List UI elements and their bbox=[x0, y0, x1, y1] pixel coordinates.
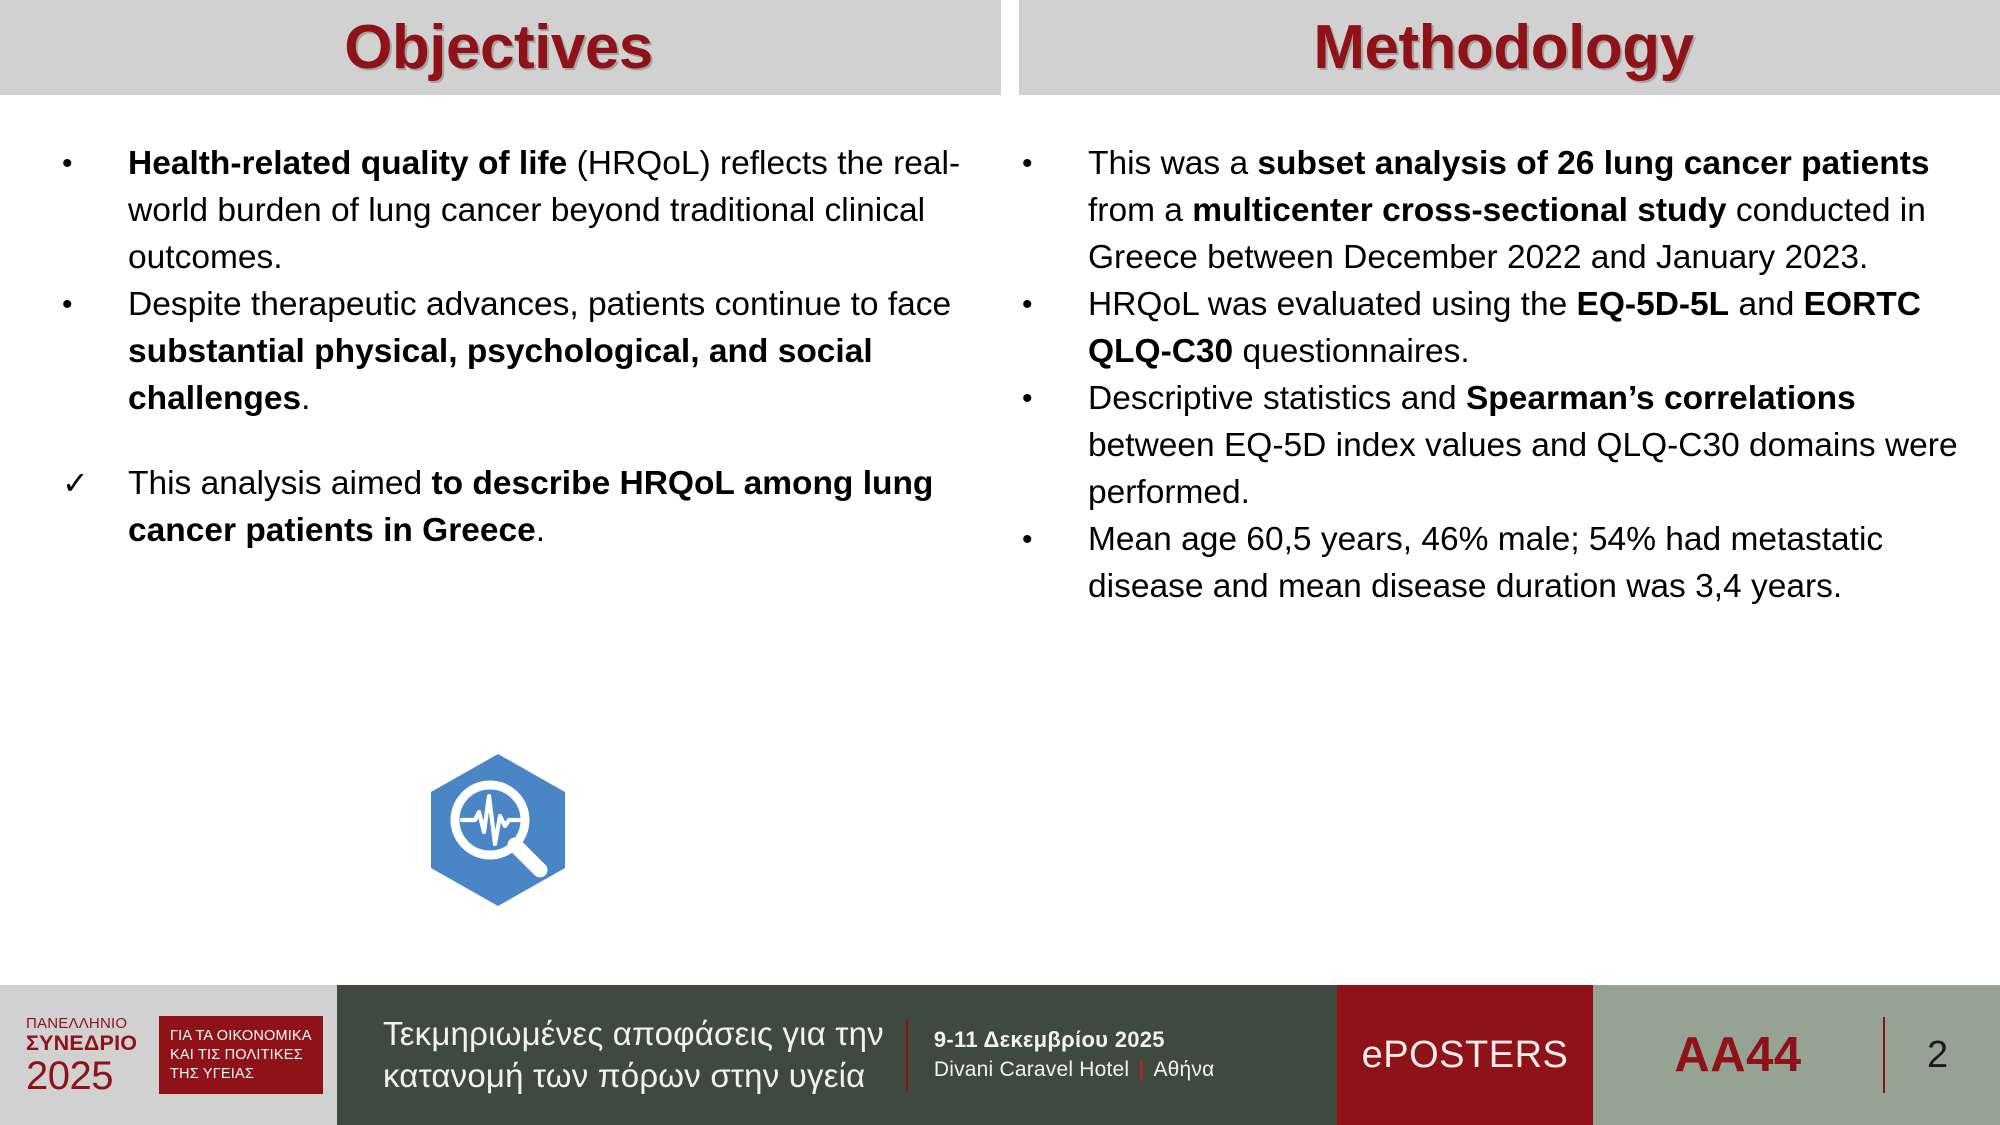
list-item: • Health-related quality of life (HRQoL)… bbox=[50, 140, 980, 281]
check-mark-icon: ✓ bbox=[62, 460, 102, 507]
list-item: • Mean age 60,5 years, 46% male; 54% had… bbox=[1010, 516, 1970, 610]
bullet-dot-icon: • bbox=[1022, 281, 1062, 328]
bullet-text: Mean age 60,5 years, 46% male; 54% had m… bbox=[1088, 521, 1883, 605]
list-item: • Despite therapeutic advances, patients… bbox=[50, 281, 980, 422]
page-number-cell: 2 bbox=[1883, 985, 2000, 1125]
bullet-text: HRQoL was evaluated using the EQ-5D-5L a… bbox=[1088, 286, 1921, 370]
logo-box-line-2: ΚΑΙ ΤΙΣ ΠΟΛΙΤΙΚΕΣ bbox=[170, 1046, 312, 1065]
eposters-label: ePOSTERS bbox=[1362, 1034, 1569, 1077]
conference-dates: 9-11 Δεκεμβρίου 2025 bbox=[934, 1025, 1215, 1055]
footer-green-band: Τεκμηριωμένες αποφάσεις για την κατανομή… bbox=[337, 985, 1337, 1125]
tagline-line-2: κατανομή των πόρων στην υγεία bbox=[383, 1055, 884, 1097]
conference-logo: ΠΑΝΕΛΛΗΝΙΟ ΣΥΝΕΔΡΙΟ 2025 ΓΙΑ ΤΑ ΟΙΚΟΝΟΜΙ… bbox=[26, 1016, 323, 1094]
poster-code: AA44 bbox=[1674, 1027, 1801, 1083]
bullet-text: Health-related quality of life (HRQoL) r… bbox=[128, 145, 960, 276]
list-spacer bbox=[50, 422, 980, 460]
page-title-methodology: Methodology bbox=[1313, 17, 1693, 79]
logo-line-panellinio: ΠΑΝΕΛΛΗΝΙΟ bbox=[26, 1016, 148, 1032]
conference-logo-cell: ΠΑΝΕΛΛΗΝΙΟ ΣΥΝΕΔΡΙΟ 2025 ΓΙΑ ΤΑ ΟΙΚΟΝΟΜΙ… bbox=[0, 985, 337, 1125]
bullet-text: This was a subset analysis of 26 lung ca… bbox=[1088, 145, 1930, 276]
list-item: • HRQoL was evaluated using the EQ-5D-5L… bbox=[1010, 281, 1970, 375]
conference-date-venue: 9-11 Δεκεμβρίου 2025 Divani Caravel Hote… bbox=[934, 1025, 1239, 1085]
hexagon-magnifier-ecg-icon bbox=[418, 750, 578, 910]
bullet-dot-icon: • bbox=[1022, 375, 1062, 422]
conference-venue: Divani Caravel Hotel | Αθήνα bbox=[934, 1055, 1215, 1085]
slide: Objectives Methodology • Health-related … bbox=[0, 0, 2000, 1125]
objectives-header-band: Objectives bbox=[0, 0, 1001, 95]
logo-subtitle-box: ΓΙΑ ΤΑ ΟΙΚΟΝΟΜΙΚΑ ΚΑΙ ΤΙΣ ΠΟΛΙΤΙΚΕΣ ΤΗΣ … bbox=[159, 1016, 323, 1094]
methodology-column: • This was a subset analysis of 26 lung … bbox=[1010, 140, 1970, 610]
bullet-dot-icon: • bbox=[62, 281, 102, 328]
page-number-divider bbox=[1883, 1017, 1885, 1093]
venue-city: Αθήνα bbox=[1153, 1058, 1214, 1081]
bullet-dot-icon: • bbox=[1022, 140, 1062, 187]
content-columns: • Health-related quality of life (HRQoL)… bbox=[0, 140, 2000, 950]
eposters-badge: ePOSTERS bbox=[1337, 985, 1593, 1125]
conference-tagline: Τεκμηριωμένες αποφάσεις για την κατανομή… bbox=[337, 1013, 884, 1097]
venue-name: Divani Caravel Hotel bbox=[934, 1058, 1129, 1081]
methodology-header-band: Methodology bbox=[1019, 0, 2000, 95]
objectives-bullet-list: • Health-related quality of life (HRQoL)… bbox=[50, 140, 980, 554]
objectives-column: • Health-related quality of life (HRQoL)… bbox=[50, 140, 980, 554]
list-item: • This was a subset analysis of 26 lung … bbox=[1010, 140, 1970, 281]
logo-year: 2025 bbox=[26, 1057, 148, 1095]
bullet-dot-icon: • bbox=[62, 140, 102, 187]
bullet-text: Descriptive statistics and Spearman’s co… bbox=[1088, 380, 1958, 511]
logo-box-line-1: ΓΙΑ ΤΑ ΟΙΚΟΝΟΜΙΚΑ bbox=[170, 1027, 312, 1046]
bullet-text: Despite therapeutic advances, patients c… bbox=[128, 286, 951, 417]
poster-code-cell: AA44 bbox=[1593, 985, 1883, 1125]
aim-text: This analysis aimed to describe HRQoL am… bbox=[128, 465, 933, 549]
list-item-aim: ✓ This analysis aimed to describe HRQoL … bbox=[50, 460, 980, 554]
bullet-dot-icon: • bbox=[1022, 516, 1062, 563]
venue-separator: | bbox=[1135, 1058, 1147, 1081]
logo-line-synedrio: ΣΥΝΕΔΡΙΟ bbox=[26, 1032, 148, 1054]
footer-bar: ΠΑΝΕΛΛΗΝΙΟ ΣΥΝΕΔΡΙΟ 2025 ΓΙΑ ΤΑ ΟΙΚΟΝΟΜΙ… bbox=[0, 985, 2000, 1125]
logo-box-line-3: ΤΗΣ ΥΓΕΙΑΣ bbox=[170, 1065, 312, 1084]
page-title-objectives: Objectives bbox=[344, 17, 653, 79]
footer-divider bbox=[906, 1019, 908, 1091]
tagline-line-1: Τεκμηριωμένες αποφάσεις για την bbox=[383, 1013, 884, 1055]
page-number: 2 bbox=[1883, 1034, 1948, 1077]
methodology-bullet-list: • This was a subset analysis of 26 lung … bbox=[1010, 140, 1970, 610]
conference-logo-text: ΠΑΝΕΛΛΗΝΙΟ ΣΥΝΕΔΡΙΟ 2025 bbox=[26, 1016, 148, 1094]
list-item: • Descriptive statistics and Spearman’s … bbox=[1010, 375, 1970, 516]
